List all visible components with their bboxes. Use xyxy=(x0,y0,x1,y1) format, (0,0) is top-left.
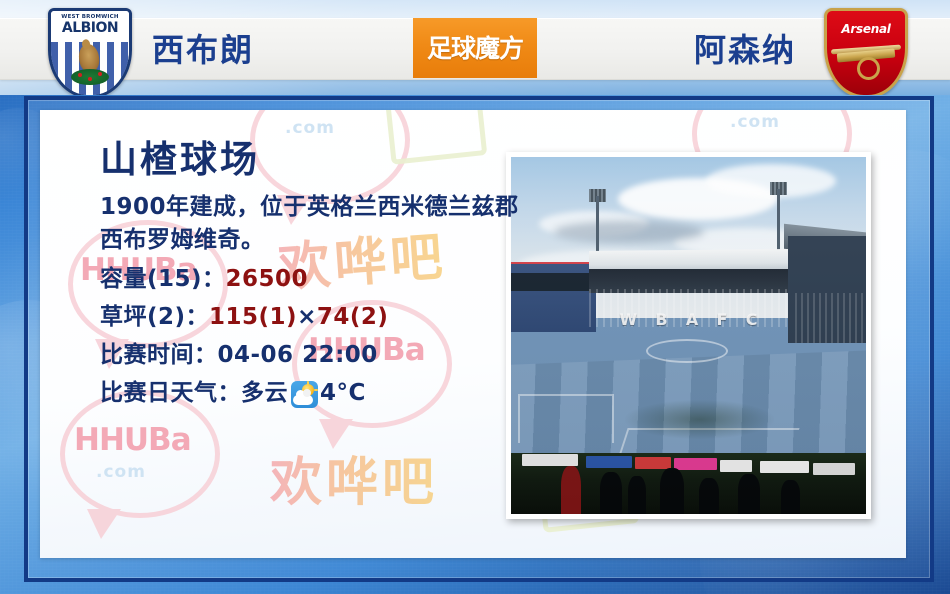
capacity-label: 容量(15) xyxy=(100,261,202,299)
wba-main-text: ALBION xyxy=(51,20,129,36)
multiply-sign: × xyxy=(297,299,317,337)
pitch-width-value: 74(2) xyxy=(317,299,389,337)
stadium-photo: W B A F C xyxy=(511,157,866,514)
pitch-label: 草坪(2) xyxy=(100,299,186,337)
arsenal-shield-icon: Arsenal xyxy=(824,8,908,95)
temperature-value: 4°C xyxy=(320,375,366,413)
stadium-description: 1900年建成，位于英格兰西米德兰兹郡西布罗姆维奇。 xyxy=(100,191,520,258)
photo-haze xyxy=(511,157,866,514)
site-logo-text: 足球魔方 xyxy=(427,36,523,61)
partly-cloudy-icon xyxy=(291,381,318,408)
home-team-name: 西布朗 xyxy=(152,18,254,78)
match-header: WEST BROMWICH ALBION 西布朗 足球魔方 阿森纳 Arsena… xyxy=(0,0,950,95)
match-time-value: 04-06 22:00 xyxy=(218,337,378,375)
berry-dot xyxy=(98,72,102,76)
watermark-latin: HHUBa xyxy=(74,422,191,458)
colon: ： xyxy=(202,261,226,299)
away-team-crest[interactable]: Arsenal xyxy=(824,8,902,92)
wba-shield-icon: WEST BROMWICH ALBION xyxy=(48,8,132,95)
stadium-info-card-screen: WEST BROMWICH ALBION 西布朗 足球魔方 阿森纳 Arsena… xyxy=(0,0,950,594)
info-card: .com .com HHUBa .com HHUBa HHUBa 欢哗吧 欢哗吧… xyxy=(40,110,906,558)
berry-dot xyxy=(78,73,82,77)
home-team-crest[interactable]: WEST BROMWICH ALBION xyxy=(48,8,126,92)
content-panel: .com .com HHUBa .com HHUBa HHUBa 欢哗吧 欢哗吧… xyxy=(24,96,934,582)
sun-ray xyxy=(314,389,318,391)
berry-dot xyxy=(88,77,92,81)
watermark-domain: .com xyxy=(730,112,780,132)
away-team-name: 阿森纳 xyxy=(694,18,796,78)
cannon-wheel-icon xyxy=(857,57,880,80)
pitch-size-row: 草坪(2) ： 115(1) × 74(2) xyxy=(100,299,520,337)
match-time-label: 比赛时间 xyxy=(100,337,194,375)
weather-row: 比赛日天气 ： 多云 4°C xyxy=(100,375,520,413)
weather-label: 比赛日天气 xyxy=(100,375,218,413)
arsenal-wordmark: Arsenal xyxy=(827,22,905,36)
pitch-length-value: 115(1) xyxy=(209,299,297,337)
stadium-photo-frame[interactable]: W B A F C xyxy=(506,152,871,519)
colon: ： xyxy=(194,337,218,375)
match-time-row: 比赛时间 ： 04-06 22:00 xyxy=(100,337,520,375)
watermark-brand-cn: 欢哗吧 xyxy=(270,440,438,515)
cloud-shape xyxy=(293,395,313,405)
sun-ray xyxy=(307,381,309,385)
weather-value: 多云 xyxy=(241,375,288,413)
capacity-row: 容量(15) ： 26500 xyxy=(100,261,520,299)
page-title: 山楂球场 xyxy=(100,140,520,181)
colon: ： xyxy=(218,375,242,413)
colon: ： xyxy=(186,299,210,337)
stadium-info-block: 山楂球场 1900年建成，位于英格兰西米德兰兹郡西布罗姆维奇。 容量(15) ：… xyxy=(100,140,520,413)
site-logo[interactable]: 足球魔方 xyxy=(413,18,537,78)
capacity-value: 26500 xyxy=(226,261,309,299)
watermark-domain: .com xyxy=(285,118,335,138)
watermark-domain: .com xyxy=(96,462,146,482)
